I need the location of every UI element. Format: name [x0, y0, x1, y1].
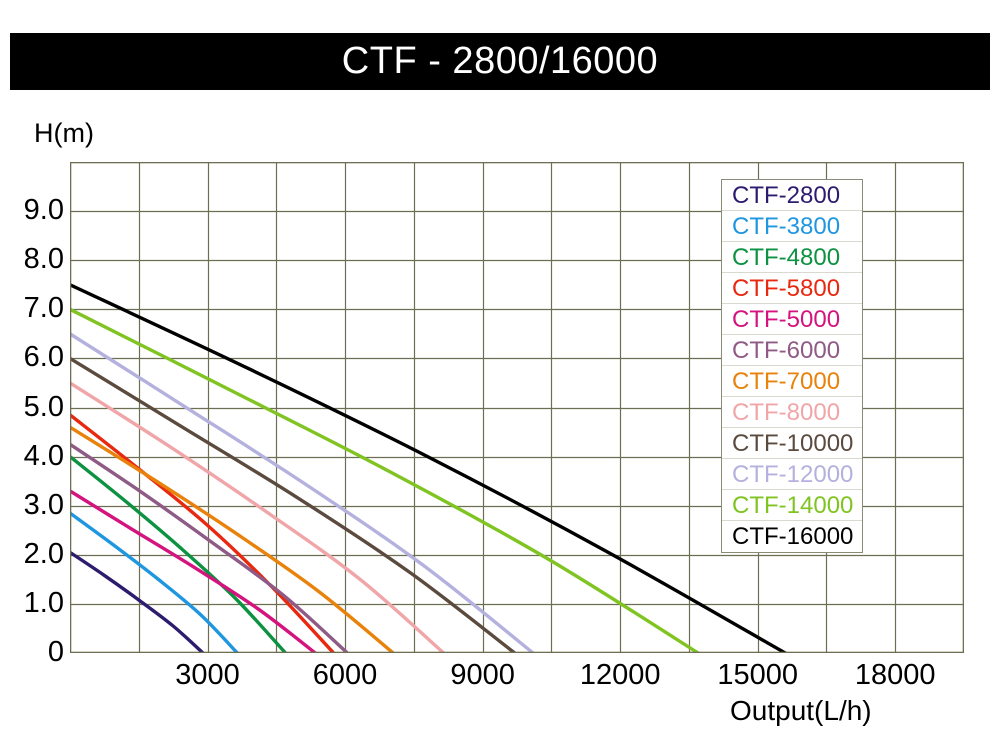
y-tick-label: 4.0 — [2, 442, 64, 471]
y-tick-label: 3.0 — [2, 491, 64, 520]
legend-item-ctf-10000[interactable]: CTF-10000 — [722, 428, 862, 459]
curve-ctf-3800 — [70, 513, 237, 653]
legend-item-ctf-6000[interactable]: CTF-6000 — [722, 335, 862, 366]
legend-item-ctf-3800[interactable]: CTF-3800 — [722, 211, 862, 242]
y-tick-label: 1.0 — [2, 589, 64, 618]
legend-item-ctf-2800[interactable]: CTF-2800 — [722, 180, 862, 211]
y-tick-label: 7.0 — [2, 294, 64, 323]
legend: CTF-2800CTF-3800CTF-4800CTF-5800CTF-5000… — [721, 179, 863, 553]
legend-item-ctf-4800[interactable]: CTF-4800 — [722, 242, 862, 273]
x-tick-label: 9000 — [413, 661, 553, 690]
curve-ctf-16000 — [70, 285, 785, 653]
y-tick-label: 0 — [2, 638, 64, 667]
x-tick-label: 3000 — [138, 661, 278, 690]
curve-ctf-2800 — [70, 552, 203, 653]
x-tick-label: 18000 — [825, 661, 965, 690]
y-axis-title: H(m) — [34, 118, 94, 149]
title-bar: CTF - 2800/16000 — [10, 33, 990, 90]
legend-item-ctf-8000[interactable]: CTF-8000 — [722, 397, 862, 428]
x-axis-title: Output(L/h) — [730, 695, 872, 727]
legend-item-ctf-5800[interactable]: CTF-5800 — [722, 273, 862, 304]
curve-ctf-8000 — [70, 383, 444, 653]
y-tick-label: 2.0 — [2, 540, 64, 569]
y-tick-label: 9.0 — [2, 196, 64, 225]
curve-ctf-5000 — [70, 491, 315, 653]
y-tick-label: 8.0 — [2, 245, 64, 274]
curve-ctf-4800 — [70, 457, 285, 653]
curve-lines — [70, 285, 785, 653]
legend-item-ctf-7000[interactable]: CTF-7000 — [722, 366, 862, 397]
y-tick-label: 5.0 — [2, 393, 64, 422]
curve-ctf-7000 — [70, 427, 393, 653]
legend-item-ctf-16000[interactable]: CTF-16000 — [722, 521, 862, 552]
legend-item-ctf-14000[interactable]: CTF-14000 — [722, 490, 862, 521]
pump-curve-chart: CTF - 2800/16000 H(m) 01.02.03.04.05.06.… — [0, 0, 1000, 748]
page-title: CTF - 2800/16000 — [342, 40, 658, 83]
x-tick-label: 12000 — [550, 661, 690, 690]
legend-item-ctf-5000[interactable]: CTF-5000 — [722, 304, 862, 335]
x-tick-label: 6000 — [275, 661, 415, 690]
legend-item-ctf-12000[interactable]: CTF-12000 — [722, 459, 862, 490]
x-tick-label: 15000 — [688, 661, 828, 690]
y-tick-label: 6.0 — [2, 343, 64, 372]
